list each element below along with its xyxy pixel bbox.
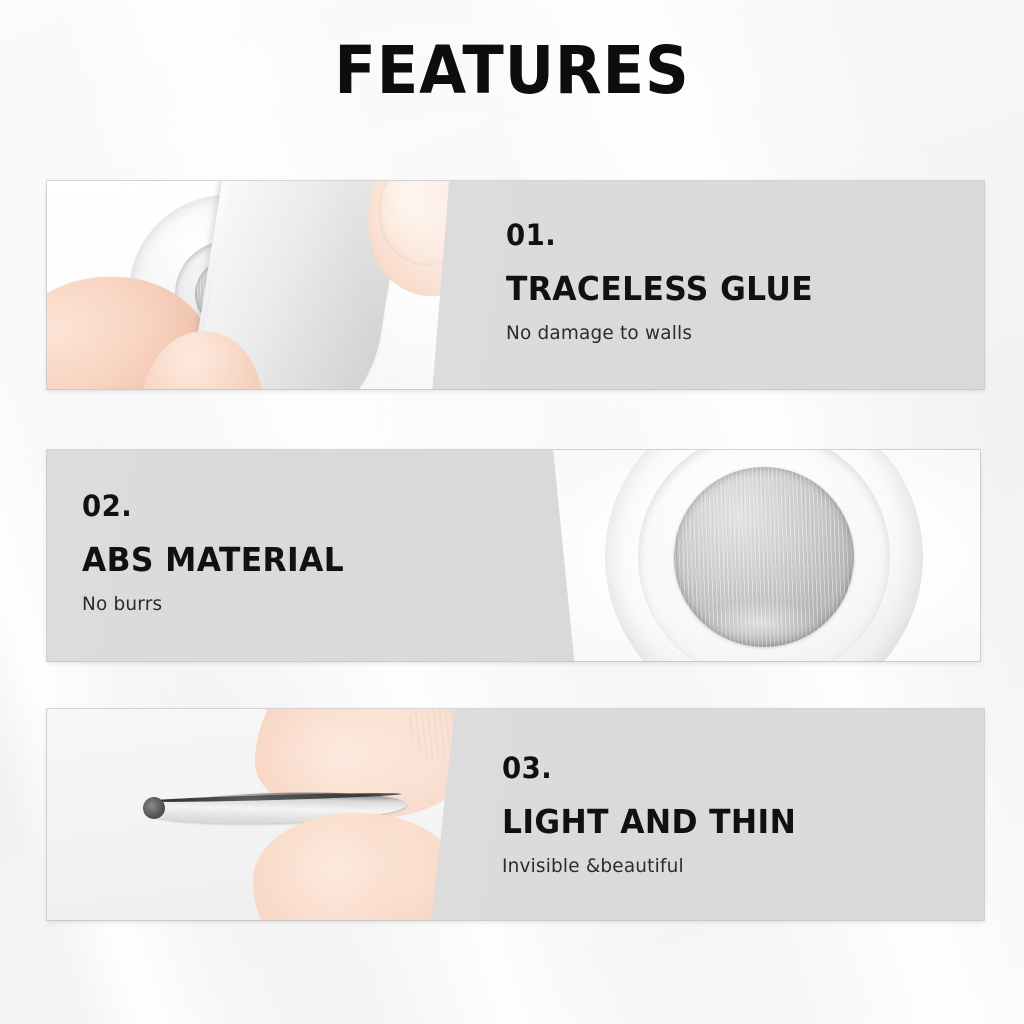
feature-3-text-panel: 03. LIGHT AND THIN Invisible &beautiful [424,709,984,920]
feature-2-number: 02. [82,492,344,521]
photo-highlight [700,600,820,646]
feature-3-text-group: 03. LIGHT AND THIN Invisible &beautiful [502,754,812,876]
feature-2-text-panel: 02. ABS MATERIAL No burrs [47,450,577,661]
feature-band-1: 01. TRACELESS GLUE No damage to walls [47,181,984,389]
feature-2-subtitle: No burrs [82,595,350,614]
page-title: FEATURES [41,38,983,104]
feature-1-number: 01. [506,221,813,250]
feature-1-headline: TRACELESS GLUE [506,272,813,305]
feature-band-3: 03. LIGHT AND THIN Invisible &beautiful [47,709,984,920]
features-poster: FEATURES 01. TRACELESS GLUE No damage to… [0,0,1024,1024]
feature-1-text-panel: 01. TRACELESS GLUE No damage to walls [424,181,984,389]
feature-3-subtitle: Invisible &beautiful [502,857,802,876]
feature-band-2: 02. ABS MATERIAL No burrs [47,450,980,661]
feature-2-image [550,450,980,661]
feature-2-text-group: 02. ABS MATERIAL No burrs [82,492,358,614]
feature-1-subtitle: No damage to walls [506,324,820,343]
feature-1-text-group: 01. TRACELESS GLUE No damage to walls [506,221,829,343]
feature-2-headline: ABS MATERIAL [82,543,344,576]
feature-3-headline: LIGHT AND THIN [502,805,796,838]
feature-3-number: 03. [502,754,796,783]
